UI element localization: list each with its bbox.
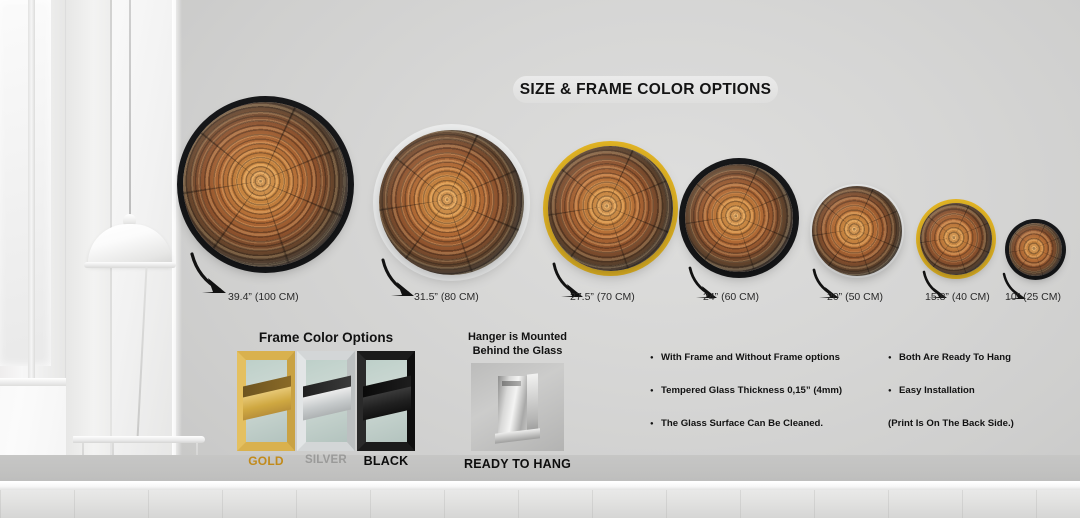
features-list: With Frame and Without Frame options Tem… [650, 352, 1070, 429]
size-label-4: 24” (60 CM) [703, 291, 759, 303]
hanger-footer: READY TO HANG [455, 457, 580, 471]
size-label-3: 27.5” (70 CM) [570, 291, 635, 303]
features-column-left: With Frame and Without Frame options Tem… [650, 352, 868, 429]
frame-swatch-silver[interactable]: SILVER [297, 351, 355, 468]
artwork-circle-4[interactable] [685, 164, 793, 272]
frame-options-heading: Frame Color Options [237, 330, 415, 345]
window-mullion [28, 0, 35, 380]
feature-item: Easy Installation [888, 385, 1070, 396]
size-label-1: 39.4” (100 CM) [228, 291, 299, 303]
frame-swatch-label: GOLD [237, 454, 295, 468]
feature-item: The Glass Surface Can Be Cleaned. [650, 418, 868, 429]
artwork-circle-7[interactable] [1009, 223, 1062, 276]
size-label-6: 15.8” (40 CM) [925, 291, 990, 303]
frame-swatch-gold[interactable]: GOLD [237, 351, 295, 468]
hanger-heading-line2: Behind the Glass [455, 344, 580, 358]
size-label-5: 20” (50 CM) [827, 291, 883, 303]
features-column-right: Both Are Ready To Hang Easy Installation… [888, 352, 1070, 429]
frame-color-options-panel: Frame Color Options GOLD [237, 330, 415, 468]
page-title-text: SIZE & FRAME COLOR OPTIONS [520, 81, 772, 99]
frame-swatch-row: GOLD SILVER BLACK [237, 351, 415, 468]
pendant-lamp-cord [129, 0, 131, 222]
artwork-circle-1[interactable] [183, 102, 348, 267]
hanger-panel: Hanger is Mounted Behind the Glass READY… [455, 330, 580, 471]
artwork-circle-2[interactable] [379, 130, 524, 275]
console-table-top [73, 436, 205, 443]
hanger-heading: Hanger is Mounted Behind the Glass [455, 330, 580, 358]
frame-swatch-label: SILVER [297, 454, 355, 466]
swatch-profile [363, 381, 411, 415]
feature-note: (Print Is On The Back Side.) [888, 418, 1070, 429]
window-sill [0, 378, 76, 386]
swatch-profile [243, 381, 291, 415]
floor [0, 490, 1080, 518]
size-label-7: 10” (25 CM) [1005, 291, 1061, 303]
window-pane [0, 0, 51, 366]
artwork-circle-6[interactable] [920, 203, 992, 275]
feature-item: Tempered Glass Thickness 0,15” (4mm) [650, 385, 868, 396]
pendant-lamp-rim [84, 262, 176, 268]
artwork-circle-5[interactable] [812, 186, 902, 276]
frame-swatch-black[interactable]: BLACK [357, 351, 415, 468]
baseboard [0, 481, 1080, 490]
hanger-photo [471, 363, 564, 451]
swatch-profile [303, 381, 351, 415]
window [0, 0, 68, 380]
frame-swatch-label: BLACK [357, 454, 415, 468]
hanger-heading-line1: Hanger is Mounted [455, 330, 580, 344]
feature-item: With Frame and Without Frame options [650, 352, 868, 363]
wall-left-edge [172, 0, 182, 466]
hanger-slot [502, 381, 521, 386]
feature-item: Both Are Ready To Hang [888, 352, 1070, 363]
size-label-2: 31.5” (80 CM) [414, 291, 479, 303]
page-title: SIZE & FRAME COLOR OPTIONS [513, 76, 778, 103]
artwork-circle-3[interactable] [548, 146, 673, 271]
